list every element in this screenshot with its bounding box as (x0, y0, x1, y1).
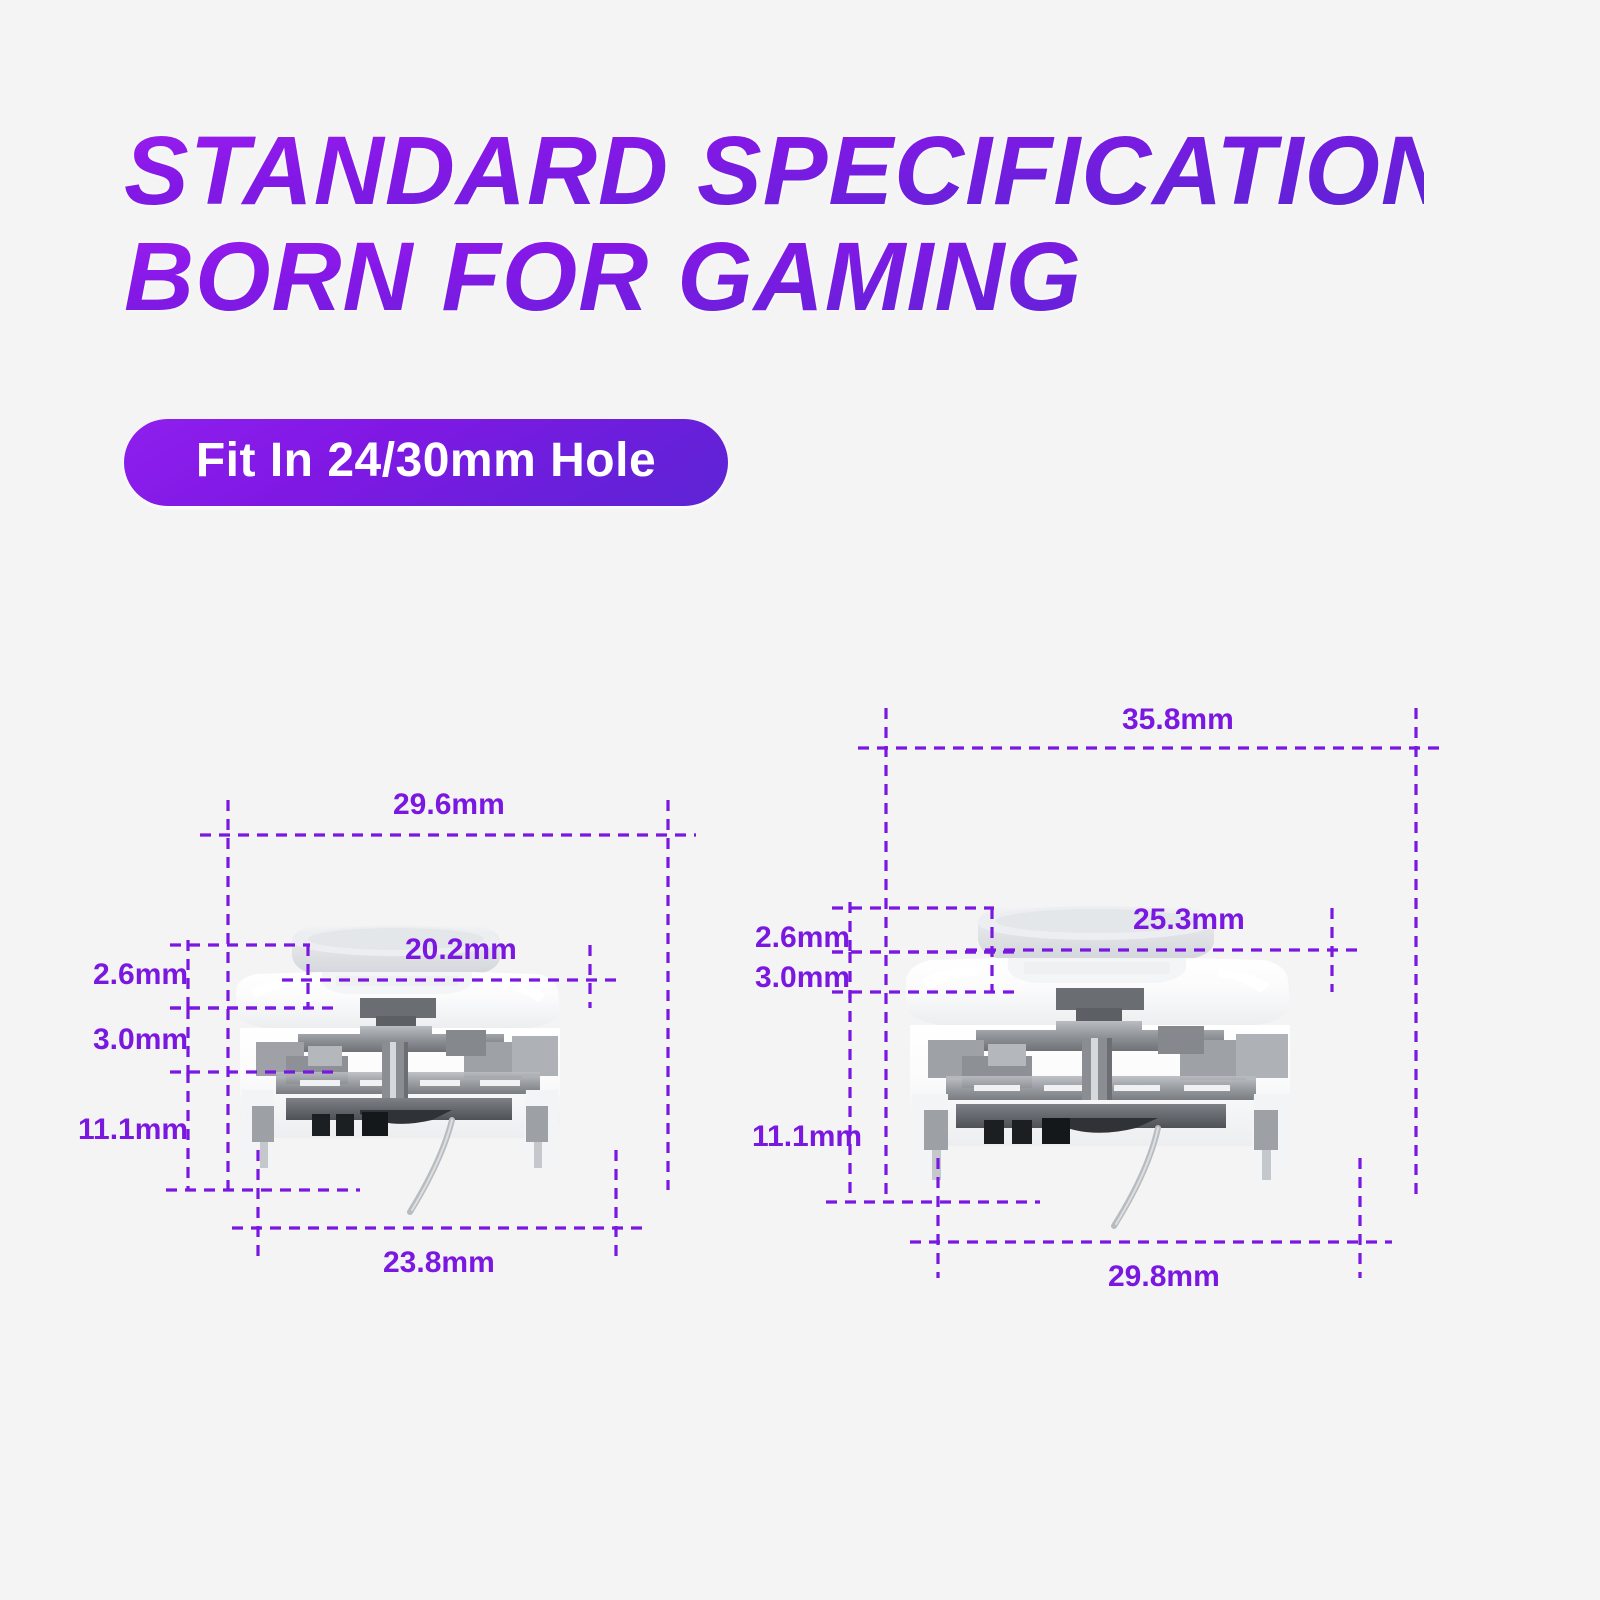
page-title: STANDARD SPECIFICATIONS BORN FOR GAMING (124, 118, 1424, 330)
dim-label-flange-height: 3.0mm (755, 963, 850, 993)
dim-label-body-height: 11.1mm (78, 1115, 188, 1145)
dim-label-body-height: 11.1mm (752, 1122, 862, 1152)
dim-label-cap-height: 2.6mm (93, 960, 188, 990)
fit-hole-badge: Fit In 24/30mm Hole (124, 419, 728, 506)
dim-label-top-inner: 20.2mm (405, 935, 517, 965)
dim-label-cap-height: 2.6mm (755, 923, 850, 953)
dim-label-bottom-width: 23.8mm (383, 1248, 495, 1278)
button-side-view-photo (906, 906, 1290, 1226)
dim-label-top-outer: 29.6mm (393, 790, 505, 820)
dim-label-top-outer: 35.8mm (1122, 705, 1234, 735)
left-button-diagram: 29.6mm 20.2mm 2.6mm 3.0mm 11.1mm 23.8mm (60, 690, 760, 1310)
dim-label-flange-height: 3.0mm (93, 1025, 188, 1055)
headline-line-1: STANDARD SPECIFICATIONS (124, 118, 1424, 224)
fit-hole-badge-label: Fit In 24/30mm Hole (196, 437, 656, 488)
right-button-diagram: 35.8mm 25.3mm 2.6mm 3.0mm 11.1mm 29.8mm (740, 690, 1460, 1310)
dim-label-top-inner: 25.3mm (1133, 905, 1245, 935)
button-side-view-photo (236, 926, 560, 1212)
dim-label-bottom-width: 29.8mm (1108, 1262, 1220, 1292)
headline-line-2: BORN FOR GAMING (124, 224, 1424, 330)
